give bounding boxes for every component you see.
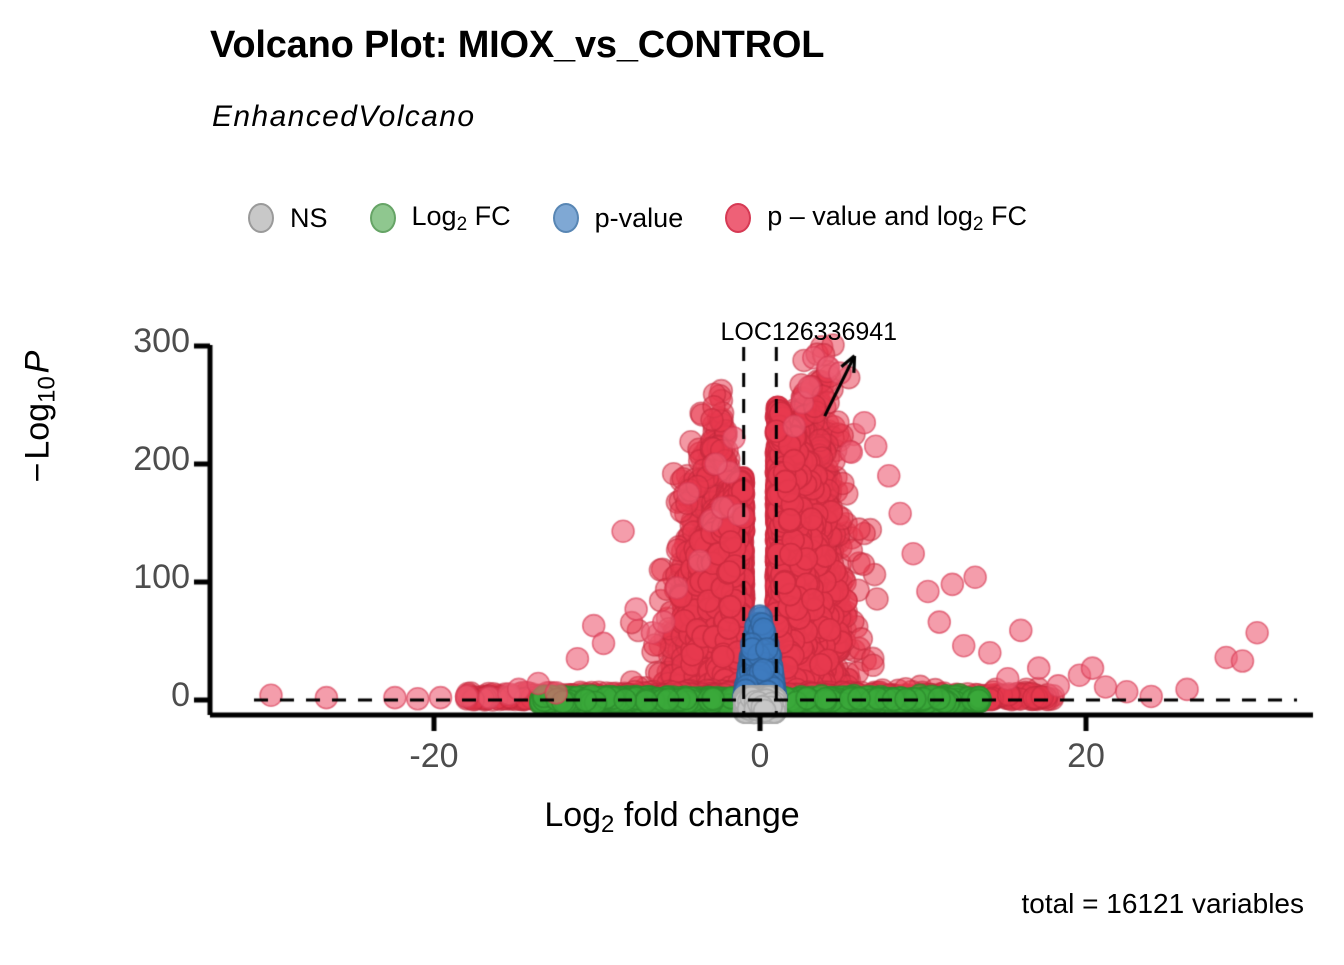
gene-annotation-label: LOC126336941 (721, 318, 898, 347)
y-tick-label: 0 (80, 676, 190, 715)
y-axis-label: − Log10 P (19, 267, 62, 567)
volcano-plot-figure: Volcano Plot: MIOX_vs_CONTROL EnhancedVo… (0, 0, 1344, 960)
x-tick-label: 20 (1026, 737, 1146, 776)
x-tick-label: 0 (700, 737, 820, 776)
x-tick-label: -20 (374, 737, 494, 776)
x-axis-label: Log2 fold change (0, 796, 1344, 839)
y-tick-label: 200 (80, 440, 190, 479)
y-tick-label: 100 (80, 558, 190, 597)
total-variables-caption: total = 16121 variables (1021, 888, 1304, 920)
y-tick-label: 300 (80, 322, 190, 361)
